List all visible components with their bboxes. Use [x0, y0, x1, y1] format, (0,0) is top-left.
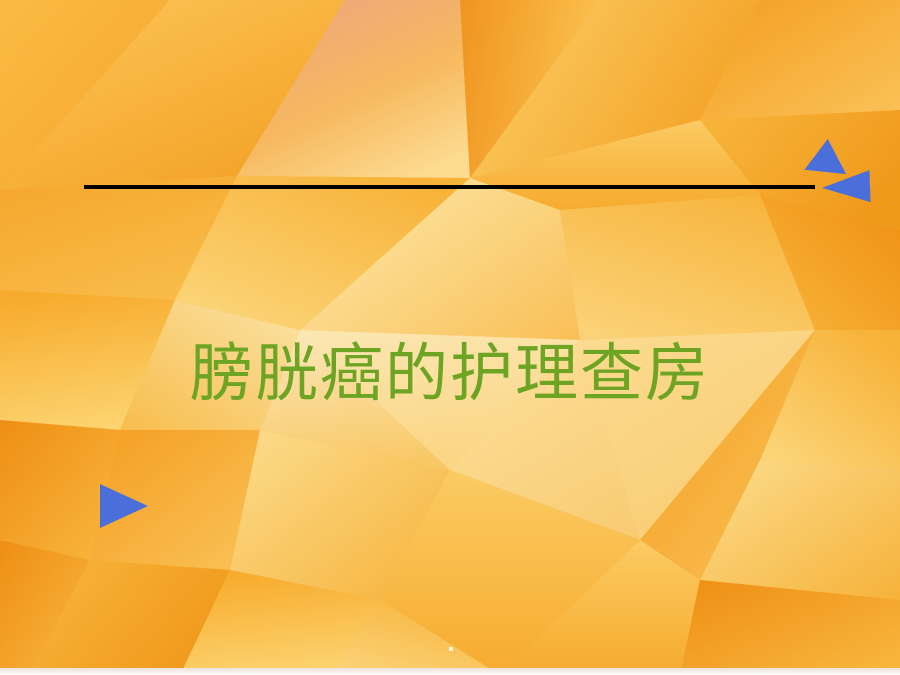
small-highlight-dot	[449, 647, 453, 651]
title-container: 膀胱癌的护理查房	[0, 339, 900, 408]
triangle-up-marker-icon	[804, 137, 849, 174]
horizontal-rule	[84, 185, 815, 189]
slide-title: 膀胱癌的护理查房	[190, 339, 710, 408]
presentation-slide: 膀胱癌的护理查房	[0, 0, 900, 675]
footer-strip	[0, 668, 900, 675]
triangle-left-marker-icon	[821, 170, 870, 204]
triangle-right-marker-icon	[100, 484, 148, 528]
